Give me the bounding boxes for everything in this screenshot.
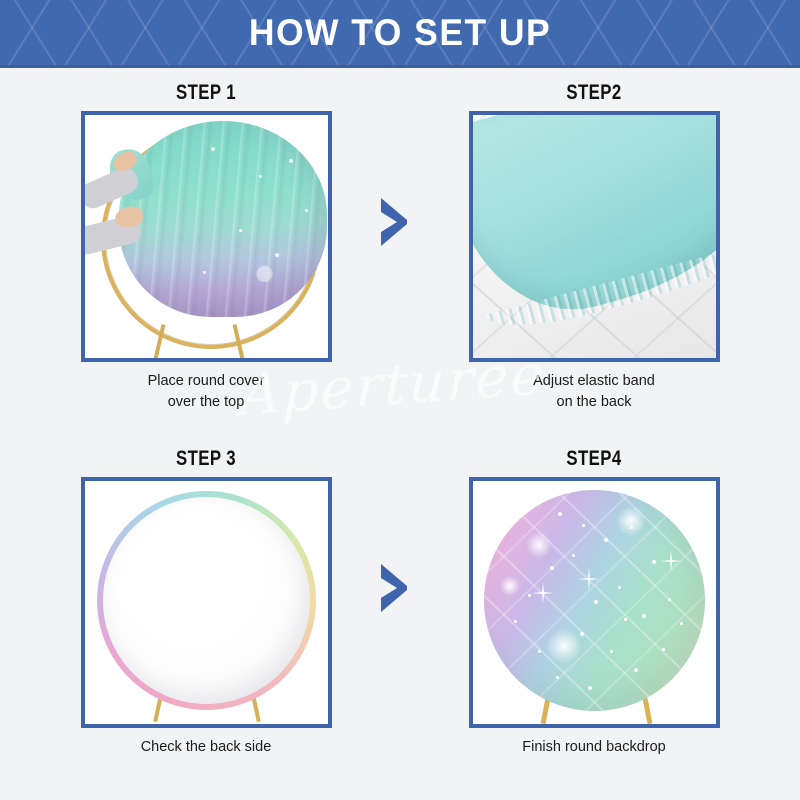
star-dot xyxy=(558,512,562,516)
star-dot xyxy=(538,650,541,653)
star-dot xyxy=(259,175,262,178)
star-dot xyxy=(203,271,206,274)
step-2-caption-line1: Adjust elastic band xyxy=(424,371,764,392)
step-1-label: STEP 1 xyxy=(70,80,342,108)
gradient-cover-fabric xyxy=(119,121,327,317)
step-4: STEP4 xyxy=(424,446,764,758)
star-dot xyxy=(289,159,293,163)
star-dot xyxy=(680,622,683,625)
star-dot xyxy=(582,524,585,527)
header-banner: HOW TO SET UP xyxy=(0,0,800,68)
star-dot xyxy=(604,538,608,542)
white-back-surface xyxy=(103,497,310,704)
step-4-panel xyxy=(469,477,720,728)
star-dot xyxy=(275,253,279,257)
sparkle-glow xyxy=(526,532,552,558)
step-2-label: STEP2 xyxy=(458,80,730,108)
chevron-right-icon xyxy=(377,562,411,614)
step-1-panel xyxy=(81,111,332,362)
step-1-caption-line2: over the top xyxy=(36,392,376,413)
step-2-photo xyxy=(473,115,716,358)
step-2-caption: Adjust elastic band on the back xyxy=(424,371,764,413)
arrow-step1-to-step2 xyxy=(377,196,411,248)
star-dot xyxy=(662,648,665,651)
sparkle-star xyxy=(588,568,590,590)
step-2: STEP2 Adjust elastic band on the back xyxy=(424,80,764,413)
star-dot xyxy=(211,147,215,151)
step-1: STEP 1 Place round cover xyxy=(36,80,376,413)
star-dot xyxy=(239,229,242,232)
chevron-right-icon xyxy=(377,196,411,248)
step-3-label: STEP 3 xyxy=(70,446,342,474)
step-2-panel xyxy=(469,111,720,362)
finished-backdrop-disc xyxy=(484,490,705,711)
fabric-folds xyxy=(119,121,327,317)
star-dot xyxy=(305,209,308,212)
sparkle-glow xyxy=(546,628,582,664)
step-1-caption: Place round cover over the top xyxy=(36,371,376,413)
star-dot xyxy=(610,650,613,653)
sparkle-glow xyxy=(616,506,646,536)
star-dot xyxy=(668,598,671,601)
step-1-photo xyxy=(85,115,328,358)
star-dot xyxy=(528,594,531,597)
step-3: STEP 3 Check the back side xyxy=(36,446,376,758)
step-3-panel xyxy=(81,477,332,728)
star-dot xyxy=(624,618,627,621)
star-dot xyxy=(315,271,318,274)
star-dot xyxy=(594,600,598,604)
step-4-label: STEP4 xyxy=(458,446,730,474)
arrow-step3-to-step4 xyxy=(377,562,411,614)
star-dot xyxy=(556,676,559,679)
star-dot xyxy=(652,560,656,564)
step-4-caption: Finish round backdrop xyxy=(424,737,764,758)
star-dot xyxy=(588,686,592,690)
step-2-caption-line2: on the back xyxy=(424,392,764,413)
step-1-caption-line1: Place round cover xyxy=(36,371,376,392)
star-dot xyxy=(642,614,646,618)
step-3-caption: Check the back side xyxy=(36,737,376,758)
step-4-caption-line1: Finish round backdrop xyxy=(424,737,764,758)
page-title: HOW TO SET UP xyxy=(16,0,784,65)
step-3-caption-line1: Check the back side xyxy=(36,737,376,758)
star-dot xyxy=(618,586,621,589)
star-dot xyxy=(580,632,584,636)
star-dot xyxy=(514,620,517,623)
sparkle-star xyxy=(542,582,544,604)
sparkle-star xyxy=(670,550,672,572)
star-dot xyxy=(634,668,638,672)
step-3-photo xyxy=(85,481,328,724)
step-4-photo xyxy=(473,481,716,724)
sparkle-glow xyxy=(500,576,520,596)
star-dot xyxy=(572,554,575,557)
star-dot xyxy=(550,566,554,570)
star-dot xyxy=(630,526,633,529)
